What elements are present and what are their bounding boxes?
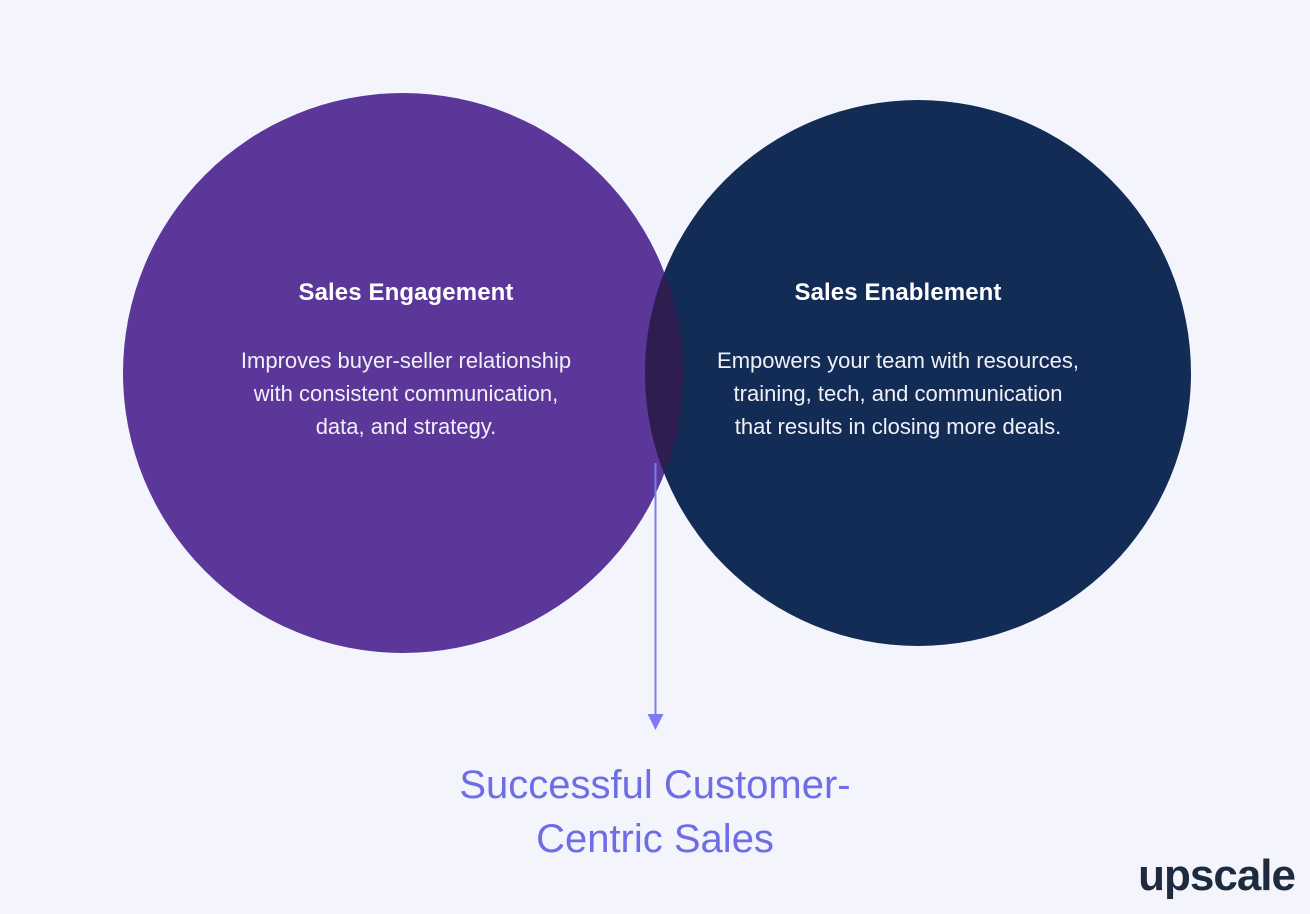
logo-mark-wrap: upscale <box>1138 854 1295 898</box>
outcome-caption-line-1: Successful Customer- <box>0 758 1310 812</box>
right-circle-body: Empowers your team with resources, train… <box>714 344 1082 443</box>
outcome-caption-line-2: Centric Sales <box>0 812 1310 866</box>
left-circle-body: Improves buyer-seller relationship with … <box>228 344 584 443</box>
left-circle-title: Sales Engagement <box>228 278 584 308</box>
down-arrow-icon <box>640 455 672 740</box>
left-circle-text-block: Sales Engagement Improves buyer-seller r… <box>228 278 584 443</box>
down-arrow-svg <box>640 455 672 740</box>
right-circle-text-block: Sales Enablement Empowers your team with… <box>714 278 1082 443</box>
right-circle-title: Sales Enablement <box>714 278 1082 308</box>
logo-wordmark: upscale <box>1138 851 1295 900</box>
outcome-caption: Successful Customer- Centric Sales <box>0 758 1310 866</box>
venn-infographic: Sales Engagement Improves buyer-seller r… <box>0 0 1310 914</box>
upscale-logo: upscale <box>1138 854 1295 898</box>
